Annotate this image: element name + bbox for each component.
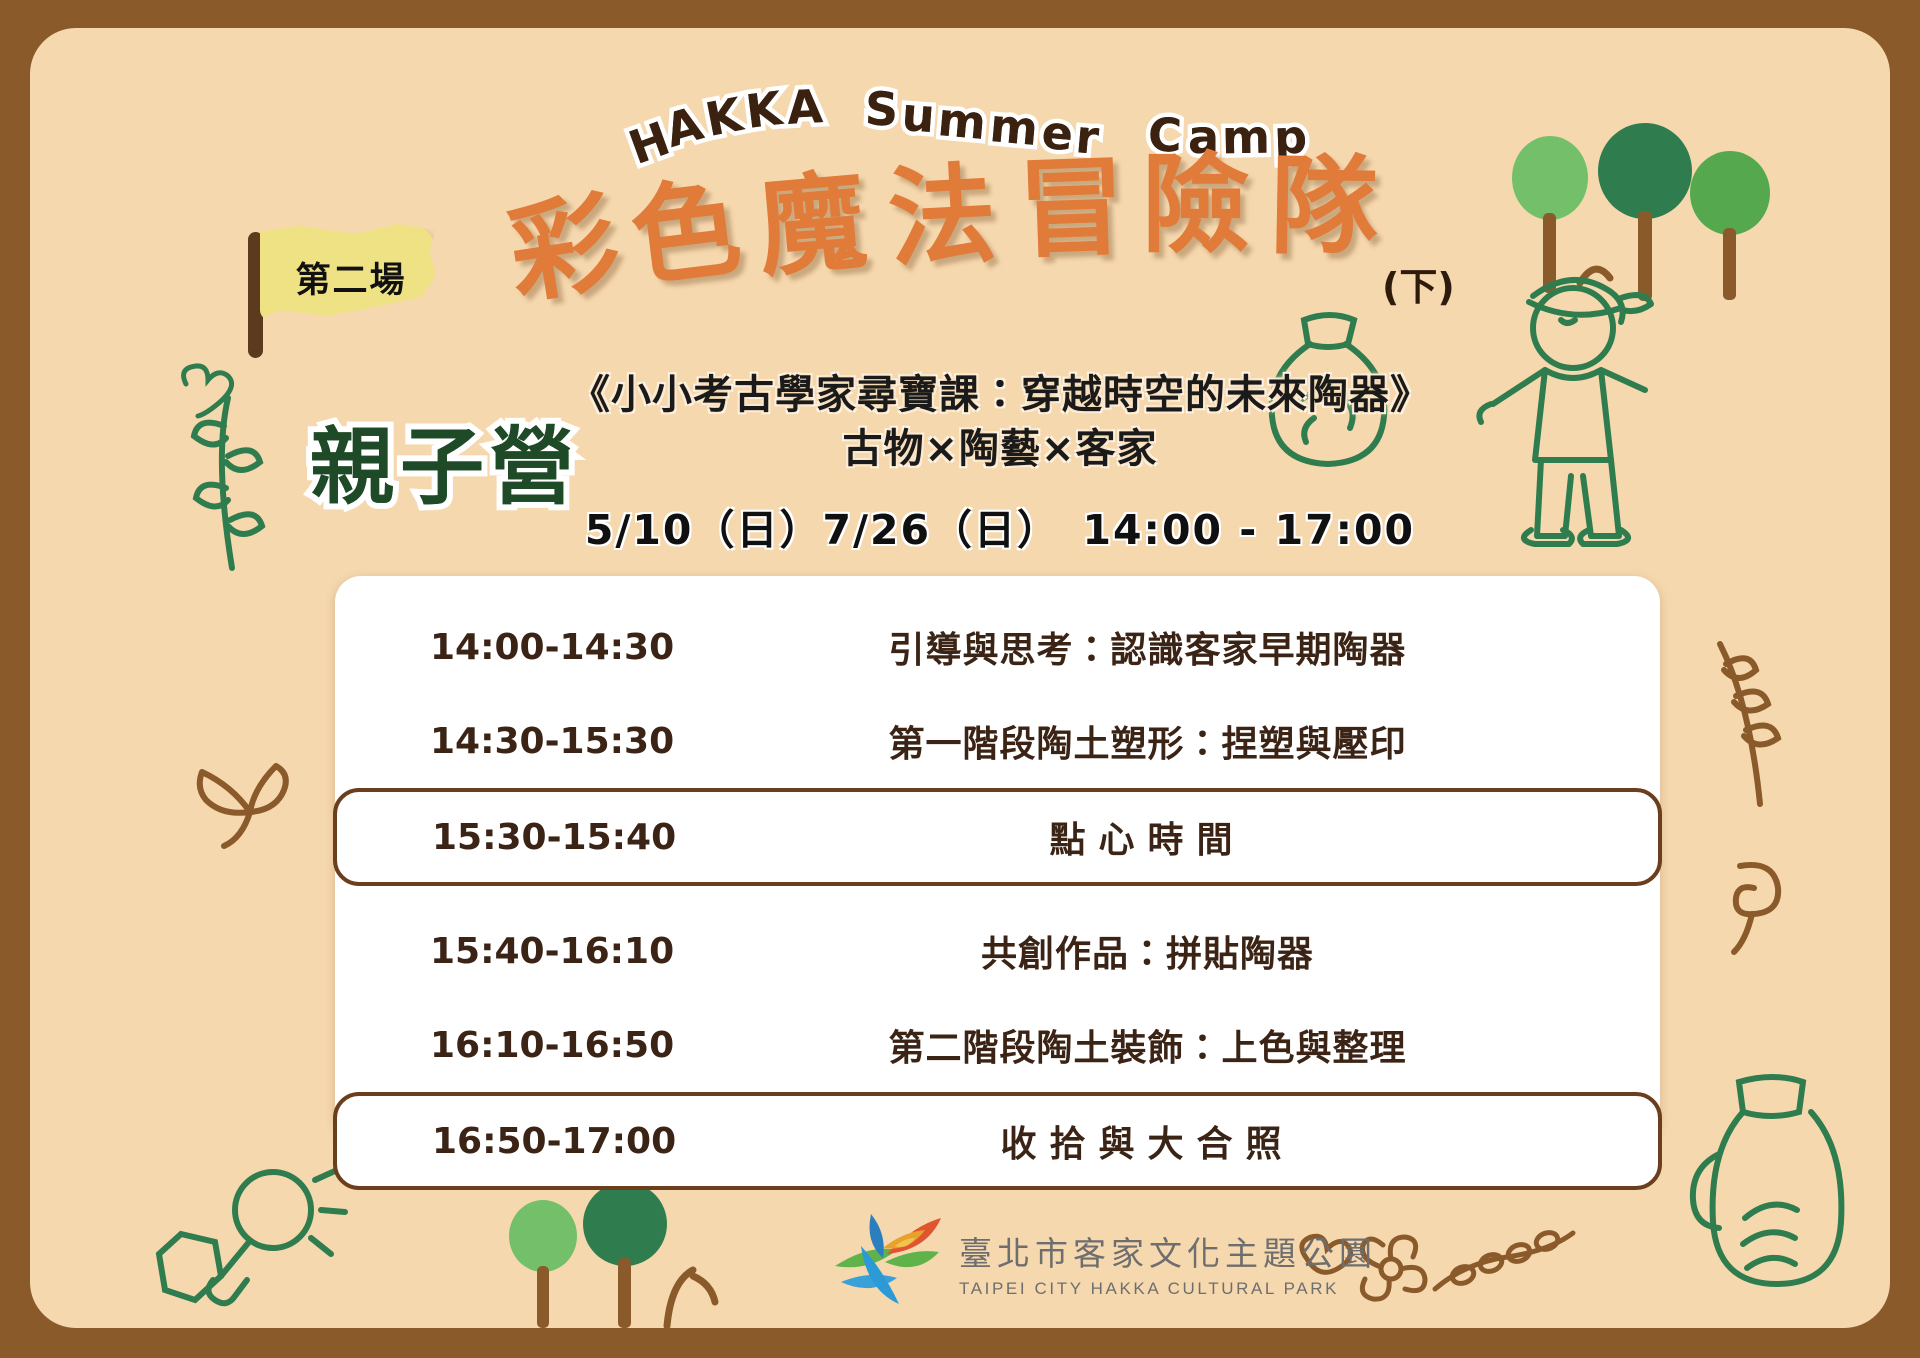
footer-logo: 臺北市客家文化主題公園 TAIPEI CITY HAKKA CULTURAL P…: [825, 1210, 1377, 1315]
table-row-highlighted: 15:30-15:40 點心時間: [333, 788, 1662, 886]
tall-vase-icon: [1665, 1068, 1875, 1328]
logo-text-block: 臺北市客家文化主題公園 TAIPEI CITY HAKKA CULTURAL P…: [959, 1227, 1377, 1299]
wheat-sprig-left-icon: [160, 378, 300, 598]
table-row-highlighted: 16:50-17:00 收拾與大合照: [333, 1092, 1662, 1190]
main-title-char-2: 色: [626, 174, 746, 294]
seed-vine-doodle-icon: [1425, 1213, 1585, 1313]
eng-title-fg-7: u: [900, 87, 936, 143]
table-row: 15:40-16:10 共創作品：拼貼陶器: [335, 904, 1660, 998]
main-title-char-1: 彩: [502, 188, 626, 312]
eng-title-fg-3: K: [701, 87, 746, 147]
main-title-char-5: 冒: [1016, 154, 1128, 266]
main-title-char-4: 法: [885, 161, 999, 275]
wheat-sprig-right-icon: [1680, 628, 1810, 828]
eng-title-fg-8: m: [936, 92, 988, 150]
org-name-en: TAIPEI CITY HAKKA CULTURAL PARK: [959, 1279, 1377, 1299]
schedule-time: 14:30-15:30: [335, 721, 715, 762]
hakka-park-logo-icon: [825, 1210, 945, 1315]
main-title-char-3: 魔: [753, 167, 870, 284]
org-name-zh: 臺北市客家文化主題公園: [959, 1227, 1377, 1275]
schedule-time: 14:00-14:30: [335, 627, 715, 668]
eng-title-fg-6: S: [864, 81, 899, 136]
dragonfly-doodle-icon: [180, 748, 310, 858]
episode-badge: 第二場: [248, 224, 448, 352]
tree-cluster-bottom-icon: [485, 1188, 725, 1328]
main-title-char-6: 險: [1142, 152, 1250, 260]
girl-with-pot-icon: [1445, 258, 1775, 558]
tree-cluster-top-right-icon: [1430, 123, 1830, 323]
schedule-time: 15:30-15:40: [337, 817, 717, 858]
schedule-card: 14:00-14:30 引導與思考：認識客家早期陶器 14:30-15:30 第…: [335, 576, 1660, 1141]
swirl-doodle-icon: [1700, 848, 1810, 968]
main-title: 彩 色 魔 法 冒 險 隊: [510, 148, 1430, 298]
subtitle-line-2: 古物×陶藝×客家: [570, 422, 1430, 476]
schedule-time: 15:40-16:10: [335, 931, 715, 972]
schedule-topic: 點心時間: [717, 811, 1658, 863]
schedule-time: 16:50-17:00: [337, 1121, 717, 1162]
table-row: 14:30-15:30 第一階段陶土塑形：捏塑與壓印: [335, 694, 1660, 788]
schedule-topic: 收拾與大合照: [717, 1115, 1658, 1167]
schedule-topic: 第一階段陶土塑形：捏塑與壓印: [715, 715, 1660, 767]
schedule-time: 16:10-16:50: [335, 1025, 715, 1066]
eng-title-fg-5: A: [786, 79, 824, 135]
subtitle-block: 《小小考古學家尋寶課：穿越時空的未來陶器》 古物×陶藝×客家: [570, 368, 1430, 477]
table-row: 14:00-14:30 引導與思考：認識客家早期陶器: [335, 600, 1660, 694]
schedule-topic: 引導與思考：認識客家早期陶器: [715, 621, 1660, 673]
datetime-line: 5/10（日）7/26（日） 14:00 - 17:00: [570, 496, 1430, 556]
main-title-suffix: (下): [1382, 256, 1455, 311]
table-row: 16:10-16:50 第二階段陶土裝飾：上色與整理: [335, 998, 1660, 1092]
eng-title-fg-4: K: [743, 81, 785, 139]
main-title-char-7: 隊: [1269, 153, 1379, 263]
family-camp-label: 親子營: [310, 400, 580, 521]
magnifier-and-shard-icon: [145, 1158, 355, 1328]
episode-badge-label: 第二場: [276, 252, 426, 303]
schedule-topic: 共創作品：拼貼陶器: [715, 925, 1660, 977]
heart-doodle-icon: [170, 358, 240, 428]
subtitle-line-1: 《小小考古學家尋寶課：穿越時空的未來陶器》: [570, 368, 1430, 422]
schedule-topic: 第二階段陶土裝飾：上色與整理: [715, 1019, 1660, 1071]
poster-card: 第二場 H A K K A S u m m e r C a m p H A K …: [30, 28, 1890, 1328]
poster-root: 第二場 H A K K A S u m m e r C a m p H A K …: [0, 0, 1920, 1358]
